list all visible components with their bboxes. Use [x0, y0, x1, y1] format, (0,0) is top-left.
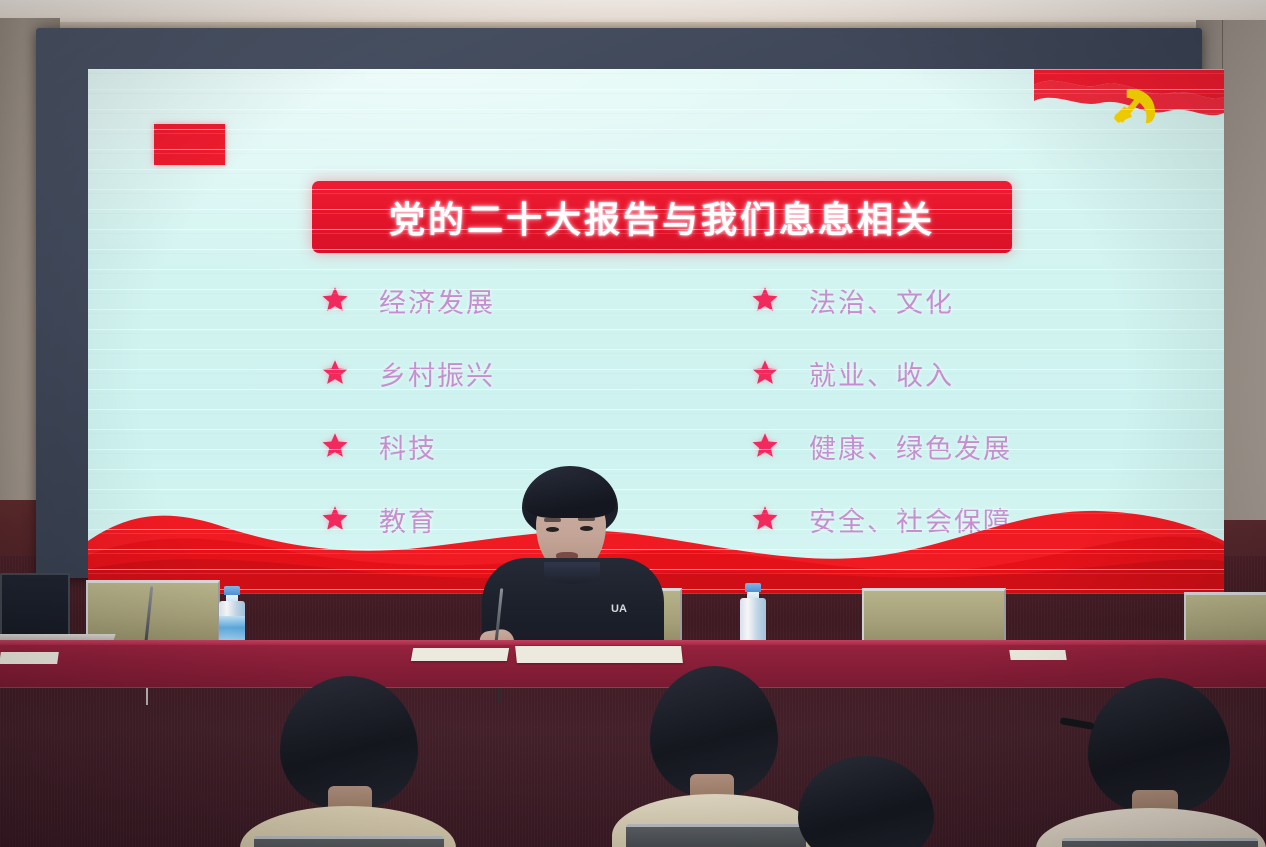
- red-star-icon: [320, 431, 350, 461]
- documents: [0, 652, 59, 664]
- list-item: 健康、绿色发展: [750, 422, 1180, 470]
- bottle-cap: [224, 586, 240, 595]
- slide-title-banner: 党的二十大报告与我们息息相关: [312, 181, 1012, 253]
- bullet-label: 健康、绿色发展: [809, 427, 1012, 466]
- audience-chair: [626, 824, 806, 847]
- audience-member-4: [1052, 678, 1266, 847]
- jacket-logo: UA: [610, 604, 628, 615]
- red-star-icon: [320, 285, 350, 315]
- bullet-label: 经济发展: [379, 281, 495, 320]
- eye: [546, 527, 559, 532]
- red-star-icon: [750, 358, 780, 388]
- bottle-label: [219, 616, 245, 642]
- slide-title: 党的二十大报告与我们息息相关: [389, 191, 935, 243]
- red-star-icon: [320, 358, 350, 388]
- audience-member-3: [782, 756, 958, 847]
- list-item: 就业、收入: [750, 349, 1180, 397]
- red-block-decoration: [154, 124, 225, 165]
- documents: [515, 646, 683, 663]
- list-item: 科技: [320, 422, 750, 470]
- red-star-icon: [750, 285, 780, 315]
- chair: [862, 588, 1006, 647]
- bottle-cap: [745, 583, 761, 592]
- presenter-collar: [544, 562, 600, 584]
- eyeglasses-icon: [1060, 717, 1095, 730]
- red-star-icon: [750, 431, 780, 461]
- microphone-stalk: [144, 586, 153, 646]
- eyebrow: [544, 518, 561, 522]
- conference-photo: 党的二十大报告与我们息息相关 经济发展 乡村振兴: [0, 0, 1266, 847]
- documents: [1009, 650, 1066, 660]
- hammer-and-sickle-flag-icon: [1034, 69, 1224, 149]
- list-item: 乡村振兴: [320, 349, 750, 397]
- head-table-edge: [0, 640, 1266, 645]
- bullet-label: 乡村振兴: [379, 354, 495, 393]
- head: [798, 756, 934, 847]
- audience-chair: [254, 836, 444, 847]
- eye: [580, 526, 593, 531]
- documents: [411, 648, 509, 661]
- audience-chair: [1062, 838, 1258, 847]
- list-item: 法治、文化: [750, 276, 1180, 324]
- audience-member-1: [240, 676, 450, 847]
- bullet-label: 法治、文化: [809, 281, 954, 320]
- list-item: 经济发展: [320, 276, 750, 324]
- laptop: [0, 573, 70, 639]
- bullet-label: 就业、收入: [809, 354, 954, 393]
- bullet-label: 科技: [379, 427, 437, 466]
